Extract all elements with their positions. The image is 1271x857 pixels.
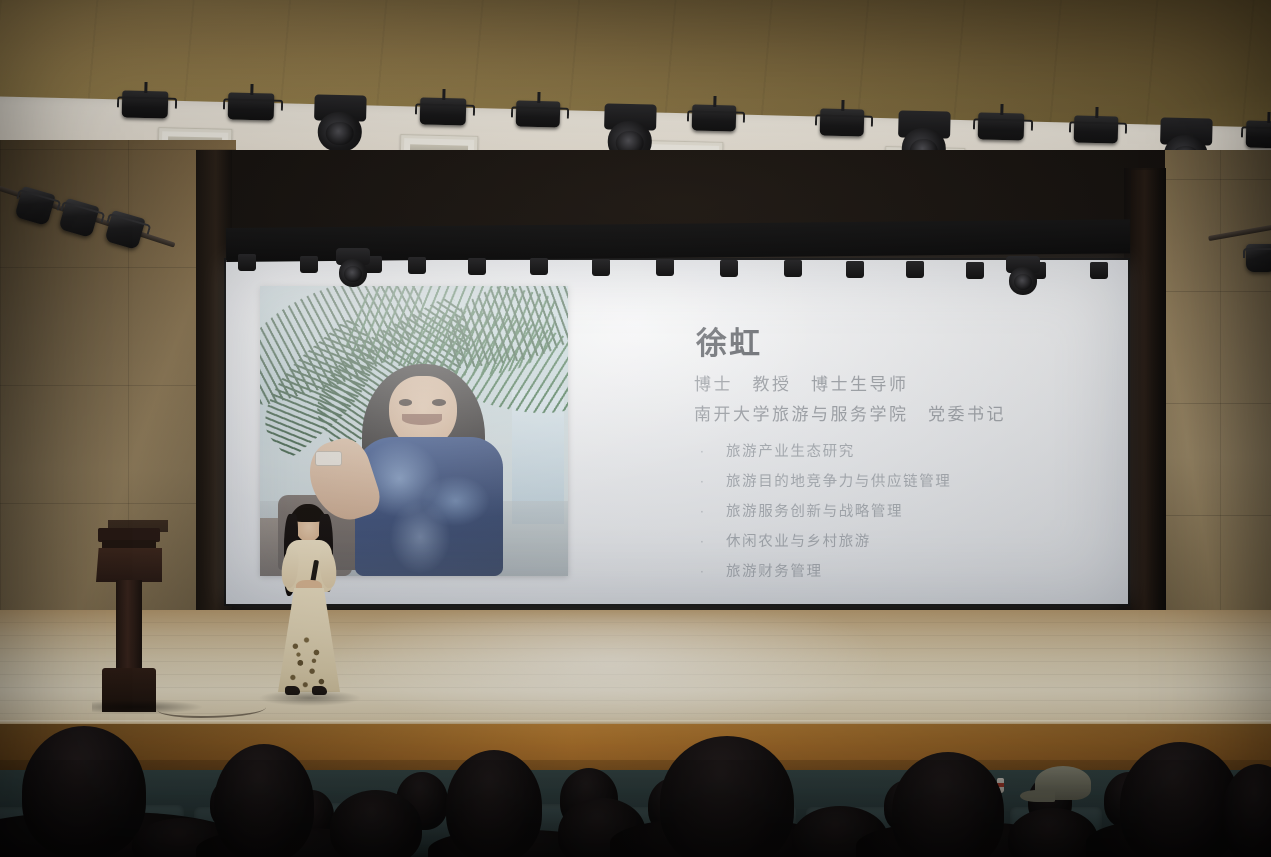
truss-par-light xyxy=(906,261,924,278)
truss-par-light xyxy=(592,259,610,276)
truss-moving-head xyxy=(336,248,370,286)
stage-par-light xyxy=(692,104,737,131)
truss-par-light xyxy=(468,258,486,275)
stage-par-light xyxy=(978,112,1025,140)
list-item: · 旅游服务创新与战略管理 xyxy=(700,500,1100,521)
line-array-speaker xyxy=(1131,170,1161,640)
list-item: · 休闲农业与乡村旅游 xyxy=(700,530,1100,551)
auditorium-photo: 徐虹 博士 教授 博士生导师 南开大学旅游与服务学院 党委书记 · 旅游产业生态… xyxy=(0,0,1271,857)
audience-head xyxy=(660,736,794,857)
truss-par-light xyxy=(784,260,802,277)
bullet-marker: · xyxy=(700,565,726,579)
truss-par-light xyxy=(846,261,864,278)
truss-moving-head xyxy=(1006,256,1040,294)
list-item-label: 旅游目的地竞争力与供应链管理 xyxy=(726,470,951,491)
moving-head-light xyxy=(313,94,366,151)
presenter-shadow xyxy=(258,690,362,706)
stage-par-light xyxy=(1246,120,1271,148)
stage-par-light xyxy=(516,100,561,127)
projection-screen: 徐虹 博士 教授 博士生导师 南开大学旅游与服务学院 党委书记 · 旅游产业生态… xyxy=(226,260,1128,604)
audience-head xyxy=(446,750,542,857)
stage-par-light xyxy=(820,108,865,136)
stage-par-light xyxy=(420,97,467,125)
list-item: · 旅游产业生态研究 xyxy=(700,440,1100,461)
stage-floor-reflection xyxy=(330,615,890,733)
lectern-desk xyxy=(96,548,162,582)
truss-par-light xyxy=(300,256,318,273)
photo-person-watch xyxy=(315,451,342,466)
truss-par-light xyxy=(966,262,984,279)
list-item: · 旅游目的地竞争力与供应链管理 xyxy=(700,470,1100,491)
truss-par-light xyxy=(720,260,738,277)
slide-credentials: 博士 教授 博士生导师 xyxy=(694,370,909,395)
truss-par-light xyxy=(1090,262,1108,279)
truss-par-light xyxy=(408,257,426,274)
lectern-column xyxy=(116,580,142,670)
stage-par-light xyxy=(122,90,169,118)
baseball-cap xyxy=(1035,766,1091,800)
list-item-label: 旅游产业生态研究 xyxy=(726,440,855,461)
bullet-marker: · xyxy=(700,505,726,519)
bullet-marker: · xyxy=(700,445,726,459)
truss-par-light xyxy=(238,254,256,271)
lectern-ledge xyxy=(102,540,156,549)
audience-head xyxy=(214,744,314,857)
truss-par-light xyxy=(656,259,674,276)
list-item: · 旅游财务管理 xyxy=(700,560,1100,581)
truss-par-light xyxy=(530,258,548,275)
list-item-label: 旅游财务管理 xyxy=(726,560,823,581)
slide-speaker-name: 徐虹 xyxy=(696,318,762,363)
audience-head xyxy=(22,726,146,857)
presenter-skirt xyxy=(278,588,340,692)
bullet-marker: · xyxy=(700,535,726,549)
stage-par-light xyxy=(228,92,275,120)
list-item-label: 旅游服务创新与战略管理 xyxy=(726,500,903,521)
list-item-label: 休闲农业与乡村旅游 xyxy=(726,530,871,551)
slide-affiliation: 南开大学旅游与服务学院 党委书记 xyxy=(694,400,1006,425)
bullet-marker: · xyxy=(700,475,726,489)
stage-par-light xyxy=(1074,115,1119,143)
truss-spotlight xyxy=(1246,244,1271,272)
audience-head xyxy=(330,790,422,857)
audience-head xyxy=(1120,742,1240,857)
slide-research-areas: · 旅游产业生态研究 · 旅游目的地竞争力与供应链管理 · 旅游服务创新与战略管… xyxy=(700,440,1100,590)
lectern xyxy=(98,528,160,710)
presenter xyxy=(272,500,346,700)
